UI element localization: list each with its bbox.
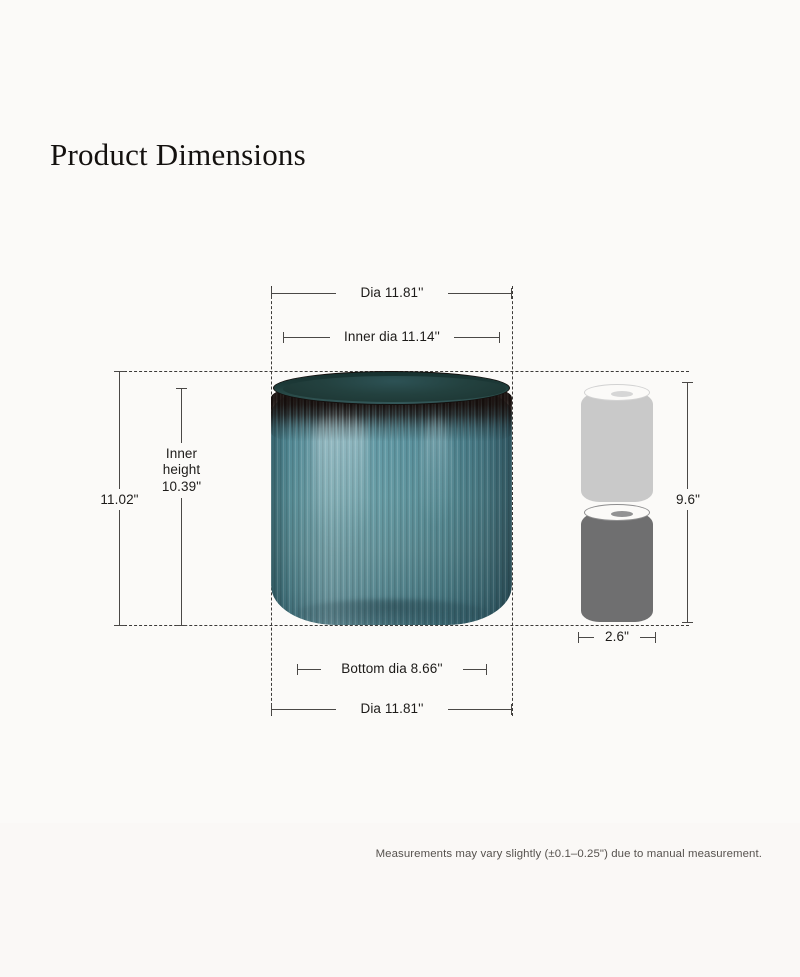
can-width-label: 2.6" bbox=[595, 629, 639, 644]
inner-height-label: Inner height 10.39" bbox=[147, 443, 216, 498]
inner-height-label-line2: height bbox=[147, 462, 216, 478]
bottom-diameter-label: Bottom dia 8.66'' bbox=[321, 661, 463, 676]
planter-image: ribbed ceramic planter bbox=[271, 371, 512, 625]
soda-can-upper-pull-tab bbox=[611, 391, 633, 397]
measurement-disclaimer: Measurements may vary slightly (±0.1–0.2… bbox=[0, 848, 762, 860]
soda-can-upper-lid bbox=[584, 384, 650, 401]
page-title: Product Dimensions bbox=[50, 137, 306, 173]
planter-interior bbox=[283, 376, 506, 402]
inner-height-cap-top bbox=[176, 388, 187, 389]
outer-height-cap-bottom bbox=[114, 625, 125, 626]
soda-can-upper bbox=[578, 382, 656, 502]
can-height-cap-top bbox=[682, 382, 693, 383]
inner-height-line bbox=[181, 388, 182, 625]
can-width-cap-left bbox=[578, 632, 579, 643]
top-outer-diameter-label: Dia 11.81'' bbox=[336, 285, 448, 300]
outer-height-cap-top bbox=[114, 371, 125, 372]
can-width-line-left bbox=[578, 637, 594, 638]
soda-can-lower-body bbox=[581, 511, 653, 622]
can-width-cap-right bbox=[655, 632, 656, 643]
soda-can-scale-reference bbox=[578, 382, 656, 622]
bottom-outer-diameter-cap-right bbox=[511, 704, 512, 715]
planter-rim bbox=[273, 371, 510, 405]
bottom-outer-diameter-label: Dia 11.81'' bbox=[336, 701, 448, 716]
bottom-diameter-line-left bbox=[297, 669, 323, 670]
soda-can-upper-body bbox=[581, 391, 653, 502]
can-height-cap-bottom bbox=[682, 622, 693, 623]
bottom-diameter-cap-left bbox=[297, 664, 298, 675]
soda-can-lower bbox=[578, 502, 656, 622]
guide-horizontal-bottom bbox=[119, 625, 689, 626]
top-inner-diameter-label: Inner dia 11.14'' bbox=[330, 329, 454, 344]
planter-base-shadow bbox=[297, 599, 486, 625]
top-outer-diameter-cap-right bbox=[511, 288, 512, 299]
inner-height-label-line1: Inner bbox=[147, 446, 216, 462]
soda-can-lower-lid bbox=[584, 504, 650, 521]
top-inner-diameter-cap-right bbox=[499, 332, 500, 343]
can-height-label: 9.6" bbox=[666, 489, 710, 510]
top-outer-diameter-cap-left bbox=[271, 288, 272, 299]
bottom-outer-diameter-cap-left bbox=[271, 704, 272, 715]
inner-height-label-line3: 10.39" bbox=[147, 479, 216, 495]
guide-vertical-right bbox=[512, 286, 513, 716]
top-inner-diameter-cap-left bbox=[283, 332, 284, 343]
inner-height-cap-bottom bbox=[176, 625, 187, 626]
planter-name: ribbed ceramic planter bbox=[271, 371, 272, 372]
can-width-line-right bbox=[640, 637, 656, 638]
bottom-diameter-line-right bbox=[461, 669, 487, 670]
soda-can-lower-pull-tab bbox=[611, 511, 633, 517]
outer-height-label: 11.02" bbox=[92, 489, 147, 510]
bottom-diameter-cap-right bbox=[486, 664, 487, 675]
footer-band bbox=[0, 823, 800, 977]
product-dimensions-diagram: Product Dimensions Dia 11.81'' Inner dia… bbox=[0, 0, 800, 977]
